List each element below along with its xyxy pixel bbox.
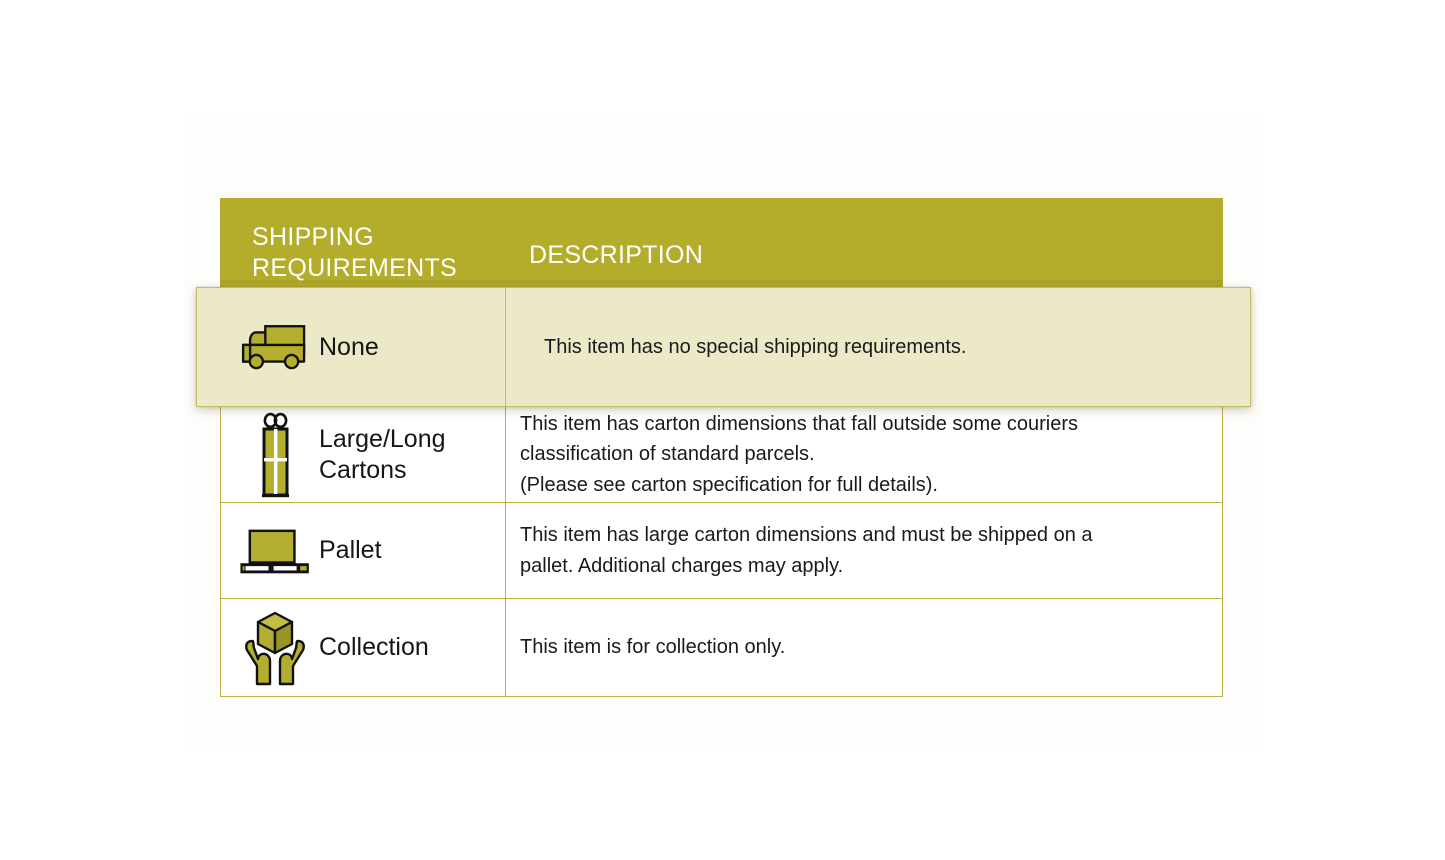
row-label-cell-collection: Collection	[221, 599, 506, 696]
column-header-shipping-requirements: SHIPPING REQUIREMENTS	[252, 222, 482, 283]
row-description-line-3: (Please see carton specification for ful…	[520, 470, 1078, 500]
tall-gift-box-icon	[239, 412, 311, 498]
row-description-line-2: pallet. Additional charges may apply.	[520, 551, 1093, 581]
row-label-pallet: Pallet	[319, 535, 382, 566]
row-description-cell-collection: This item is for collection only.	[506, 599, 1222, 696]
row-description-none: This item has no special shipping requir…	[544, 332, 966, 362]
pallet-icon	[239, 517, 311, 585]
row-description-collection: This item is for collection only.	[520, 632, 785, 662]
slide-canvas: SHIPPING REQUIREMENTS DESCRIPTION	[0, 0, 1445, 860]
row-description-line-1: This item has carton dimensions that fal…	[520, 409, 1078, 439]
row-description-line-1: This item has large carton dimensions an…	[520, 520, 1093, 550]
table-row[interactable]: Pallet This item has large carton dimens…	[220, 503, 1223, 599]
table-row[interactable]: Large/Long Cartons This item has carton …	[220, 407, 1223, 503]
row-description-line-2: classification of standard parcels.	[520, 439, 1078, 469]
row-description-cell-pallet: This item has large carton dimensions an…	[506, 503, 1222, 598]
row-description-cell-none: This item has no special shipping requir…	[506, 288, 1250, 406]
table-row-highlighted-none[interactable]: None This item has no special shipping r…	[196, 287, 1251, 407]
row-label-collection: Collection	[319, 632, 429, 663]
shipping-requirements-table: SHIPPING REQUIREMENTS DESCRIPTION	[220, 198, 1223, 697]
delivery-truck-icon	[239, 312, 311, 382]
table-header-row: SHIPPING REQUIREMENTS DESCRIPTION	[220, 198, 1223, 287]
column-header-description: DESCRIPTION	[529, 240, 703, 271]
row-description-cell-large-long-cartons: This item has carton dimensions that fal…	[506, 407, 1222, 502]
row-label-cell-large-long-cartons: Large/Long Cartons	[221, 407, 506, 502]
table-row[interactable]: Collection This item is for collection o…	[220, 599, 1223, 697]
row-label-none: None	[319, 332, 379, 363]
row-label-large-long-cartons: Large/Long Cartons	[319, 424, 505, 485]
row-label-cell-none: None	[197, 288, 506, 406]
row-label-cell-pallet: Pallet	[221, 503, 506, 598]
hands-holding-box-icon	[239, 608, 311, 688]
